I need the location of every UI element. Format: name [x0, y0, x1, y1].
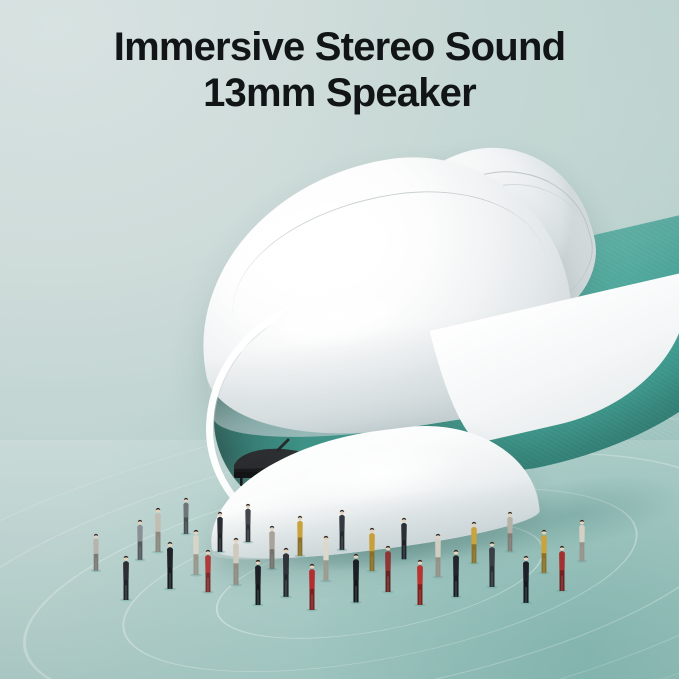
audience-figure	[337, 510, 348, 551]
headline-line-1: Immersive Stereo Sound	[114, 25, 565, 69]
audience-figure	[230, 538, 242, 587]
audience-figure	[306, 564, 318, 612]
audience-figure	[450, 550, 462, 599]
audience-figure	[366, 528, 377, 573]
audience-figure	[164, 542, 176, 591]
audience-figure	[190, 530, 202, 577]
audience-figure	[350, 554, 362, 604]
audience-figure	[91, 534, 102, 572]
audience-figure	[556, 546, 568, 593]
audience-figure	[280, 548, 292, 599]
audience-figure	[576, 520, 587, 563]
audience-figure	[181, 498, 191, 535]
audience-figure	[135, 520, 146, 561]
audience-figure	[295, 516, 306, 557]
miniature-audience	[0, 490, 679, 679]
audience-figure	[486, 542, 498, 589]
audience-figure	[152, 508, 164, 554]
headline-line-2: 13mm Speaker	[0, 70, 679, 116]
audience-figure	[538, 530, 549, 575]
audience-figure	[215, 512, 226, 553]
audience-figure	[520, 556, 532, 605]
audience-figure	[468, 522, 479, 565]
audience-figure	[320, 536, 332, 583]
page-title: Immersive Stereo Sound 13mm Speaker	[0, 24, 679, 117]
audience-figure	[202, 550, 213, 594]
audience-figure	[266, 526, 277, 571]
audience-figure	[505, 512, 516, 553]
product-marketing-image: Immersive Stereo Sound 13mm Speaker zing…	[0, 0, 679, 679]
audience-figure	[398, 518, 409, 561]
audience-figure	[243, 504, 254, 544]
audience-figure	[414, 560, 426, 607]
audience-figure	[432, 534, 443, 579]
audience-figure	[382, 546, 394, 594]
audience-figure	[120, 556, 132, 602]
audience-figure	[252, 560, 264, 607]
